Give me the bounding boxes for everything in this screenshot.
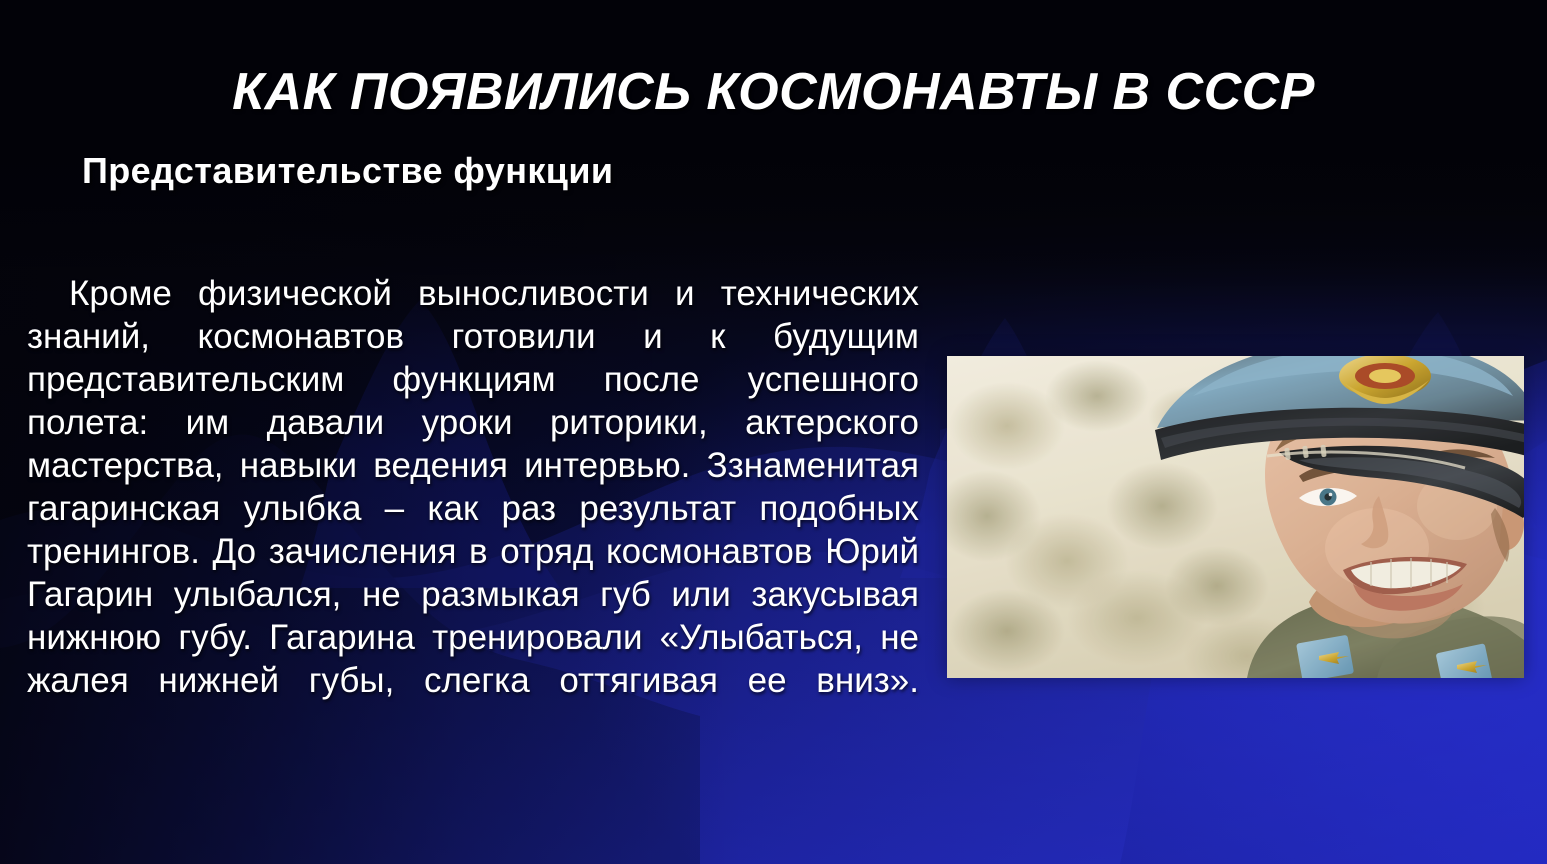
gagarin-photo (947, 356, 1524, 678)
slide-body-paragraph: Кроме физической выносливости и техничес… (27, 272, 919, 745)
presentation-slide: КАК ПОЯВИЛИСЬ КОСМОНАВТЫ В СССР Представ… (0, 0, 1547, 864)
slide-subtitle: Представительстве функции (82, 150, 613, 192)
slide-title: КАК ПОЯВИЛИСЬ КОСМОНАВТЫ В СССР (0, 62, 1547, 122)
